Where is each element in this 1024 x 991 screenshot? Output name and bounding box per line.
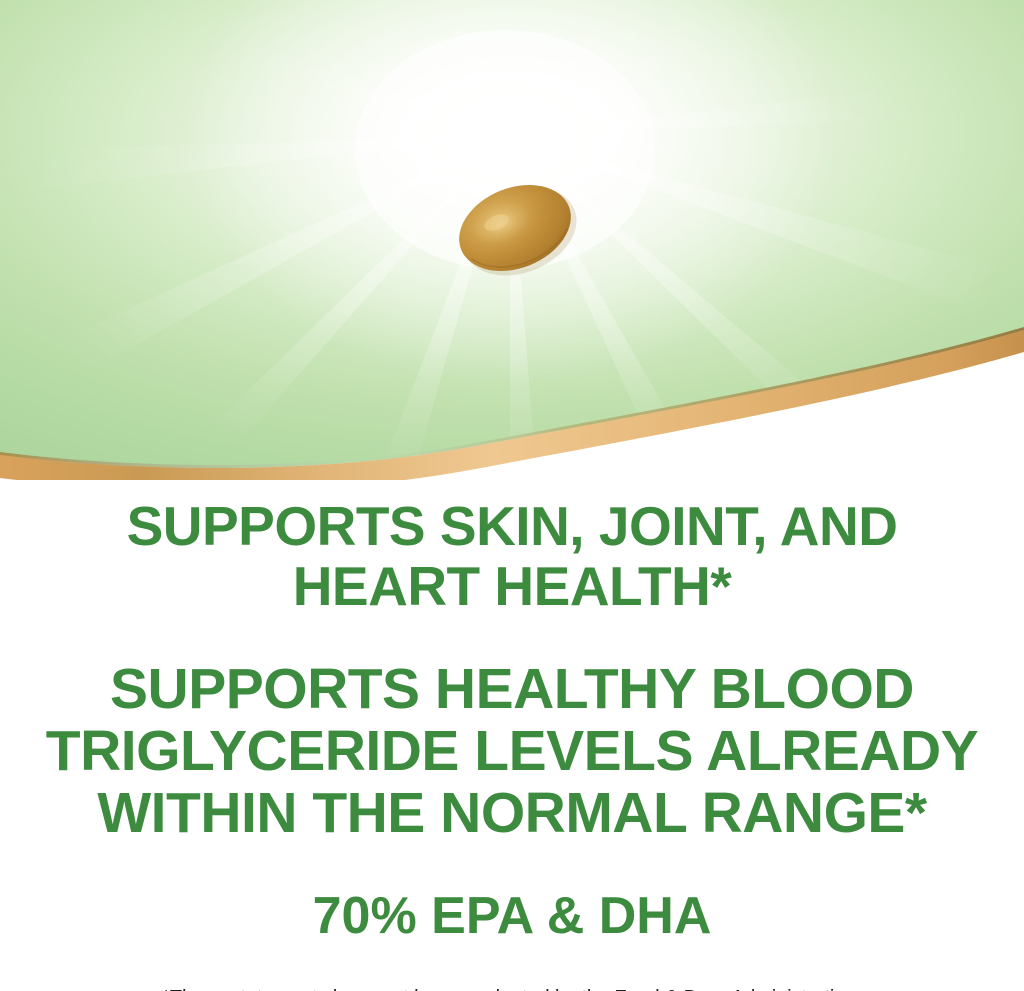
product-benefits-card: SUPPORTS SKIN, JOINT, AND HEART HEALTH* … xyxy=(0,0,1024,991)
claim-primary: SUPPORTS SKIN, JOINT, AND HEART HEALTH* xyxy=(0,496,1024,616)
claim-potency: 70% EPA & DHA xyxy=(0,888,1024,944)
claims-section: SUPPORTS SKIN, JOINT, AND HEART HEALTH* … xyxy=(0,480,1024,991)
product-hero xyxy=(0,0,1024,480)
hero-artwork xyxy=(0,0,1024,480)
claim-secondary: SUPPORTS HEALTHY BLOOD TRIGLYCERIDE LEVE… xyxy=(0,658,1024,844)
disclaimer-line-1: *These statements have not been evaluate… xyxy=(60,984,964,991)
fda-disclaimer: *These statements have not been evaluate… xyxy=(0,984,1024,991)
